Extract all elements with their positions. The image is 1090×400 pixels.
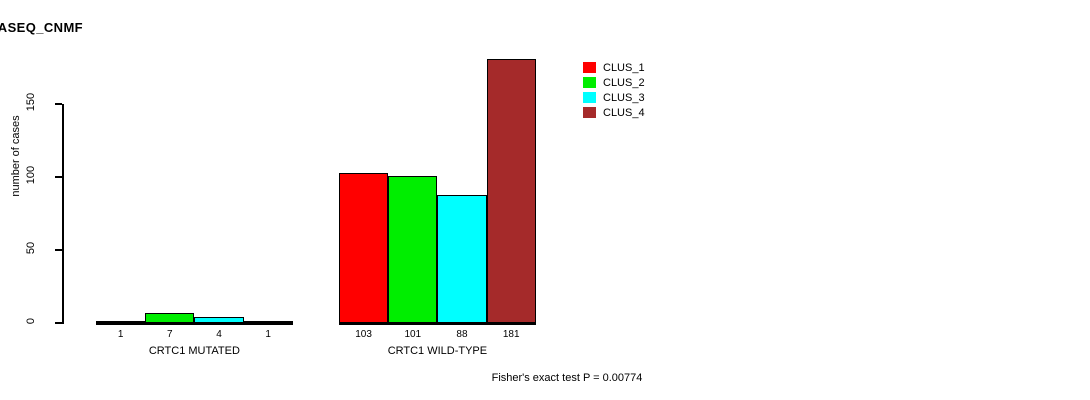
bar-value-label: 7 xyxy=(145,329,194,340)
chart-legend: CLUS_1CLUS_2CLUS_3CLUS_4 xyxy=(583,60,645,120)
legend-item-label: CLUS_1 xyxy=(603,62,645,74)
legend-color-swatch xyxy=(583,77,596,88)
bar-clus_3[interactable] xyxy=(437,195,486,323)
legend-item-label: CLUS_4 xyxy=(603,107,645,119)
legend-item[interactable]: CLUS_3 xyxy=(583,90,645,105)
bar-clus_2[interactable] xyxy=(388,176,437,323)
bar-clus_3[interactable] xyxy=(194,317,243,323)
legend-color-swatch xyxy=(583,62,596,73)
legend-item-label: CLUS_2 xyxy=(603,77,645,89)
bar-clus_4[interactable] xyxy=(487,59,536,323)
legend-item[interactable]: CLUS_2 xyxy=(583,75,645,90)
group-label: CRTC1 WILD-TYPE xyxy=(339,345,536,357)
group-baseline xyxy=(96,323,293,325)
bar-value-label: 181 xyxy=(487,329,536,340)
bar-value-label: 1 xyxy=(244,329,293,340)
chart-canvas: MRNASEQ_CNMF number of cases 050100150 1… xyxy=(0,0,1090,400)
plot-area: 1741CRTC1 MUTATED10310188181CRTC1 WILD-T… xyxy=(0,0,1090,400)
bar-value-label: 88 xyxy=(437,329,486,340)
bar-clus_2[interactable] xyxy=(145,313,194,323)
bar-clus_4[interactable] xyxy=(244,321,293,323)
legend-color-swatch xyxy=(583,92,596,103)
bar-clus_1[interactable] xyxy=(96,321,145,323)
bar-value-label: 103 xyxy=(339,329,388,340)
bar-value-label: 4 xyxy=(194,329,243,340)
legend-color-swatch xyxy=(583,107,596,118)
legend-item[interactable]: CLUS_4 xyxy=(583,105,645,120)
group-baseline xyxy=(339,323,536,325)
bar-value-label: 101 xyxy=(388,329,437,340)
legend-item[interactable]: CLUS_1 xyxy=(583,60,645,75)
group-label: CRTC1 MUTATED xyxy=(96,345,293,357)
statistical-test-annotation: Fisher's exact test P = 0.00774 xyxy=(0,372,1090,384)
bar-value-label: 1 xyxy=(96,329,145,340)
bar-clus_1[interactable] xyxy=(339,173,388,323)
legend-item-label: CLUS_3 xyxy=(603,92,645,104)
